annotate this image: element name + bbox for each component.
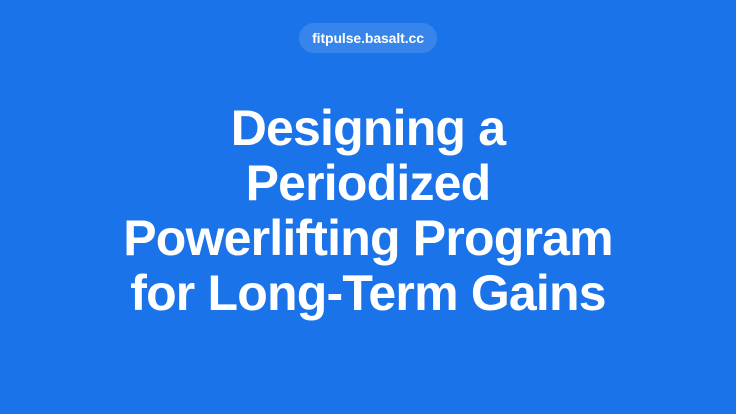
title-line-1: Designing a bbox=[48, 101, 688, 156]
title-line-2: Periodized bbox=[48, 156, 688, 211]
share-card: fitpulse.basalt.cc Designing a Periodize… bbox=[0, 0, 736, 414]
page-title: Designing a Periodized Powerlifting Prog… bbox=[48, 101, 688, 321]
title-line-4: for Long-Term Gains bbox=[48, 266, 688, 321]
domain-pill[interactable]: fitpulse.basalt.cc bbox=[299, 23, 437, 53]
domain-pill-label: fitpulse.basalt.cc bbox=[312, 31, 424, 45]
title-line-3: Powerlifting Program bbox=[48, 211, 688, 266]
